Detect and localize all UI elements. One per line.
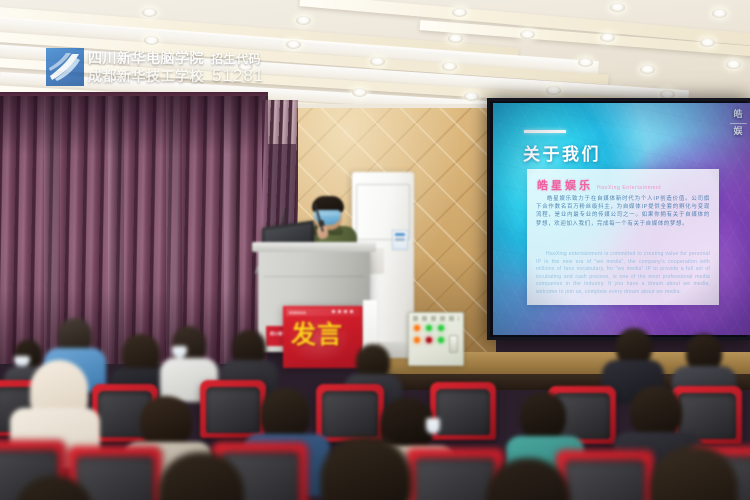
lectern-seam	[264, 276, 364, 277]
downlight	[352, 88, 367, 97]
downlight	[610, 3, 625, 12]
downlight	[726, 60, 741, 69]
audience-area	[0, 300, 750, 500]
attendee-head	[520, 392, 566, 440]
attendee-mask	[426, 418, 440, 434]
watermark-line-1: 四川新华电脑学院 招生代码	[88, 48, 261, 68]
watermark: ® 四川新华电脑学院 招生代码 成都新华技工学校 51281	[46, 46, 266, 88]
lectern-top	[252, 242, 376, 252]
downlight	[296, 16, 311, 25]
downlight	[520, 30, 535, 39]
lecture-hall-photo: 关于我们 皓星娱乐 HaoXing Entertainment 皓星娱乐致力于在…	[0, 0, 750, 500]
downlight	[452, 8, 467, 17]
auditorium-seat[interactable]	[556, 450, 654, 500]
auditorium-seat[interactable]	[200, 380, 266, 438]
downlight	[442, 62, 457, 71]
watermark-admission-code: 51281	[212, 66, 264, 86]
auditorium-seat[interactable]	[430, 382, 496, 440]
downlight	[600, 33, 615, 42]
downlight	[700, 38, 715, 47]
attendee-head	[140, 396, 192, 448]
downlight	[370, 57, 385, 66]
attendee-head	[630, 386, 682, 438]
sichuan-xinhua-logo-icon	[46, 48, 84, 86]
downlight	[712, 9, 727, 18]
watermark-institute-2: 成都新华技工学校	[88, 66, 204, 86]
downlight	[640, 65, 655, 74]
downlight	[286, 40, 301, 49]
watermark-institute-1: 四川新华电脑学院	[88, 48, 204, 68]
downlight	[578, 58, 593, 67]
watermark-line-2: 成都新华技工学校 51281	[88, 66, 264, 86]
downlight	[464, 92, 479, 101]
downlight	[448, 34, 463, 43]
downlight	[142, 8, 157, 17]
auditorium-seat[interactable]	[316, 384, 384, 442]
ac-energy-label	[392, 230, 408, 250]
downlight	[546, 86, 561, 95]
attendee-head	[260, 388, 310, 440]
watermark-code-label: 招生代码	[211, 50, 261, 67]
downlight	[144, 36, 159, 45]
